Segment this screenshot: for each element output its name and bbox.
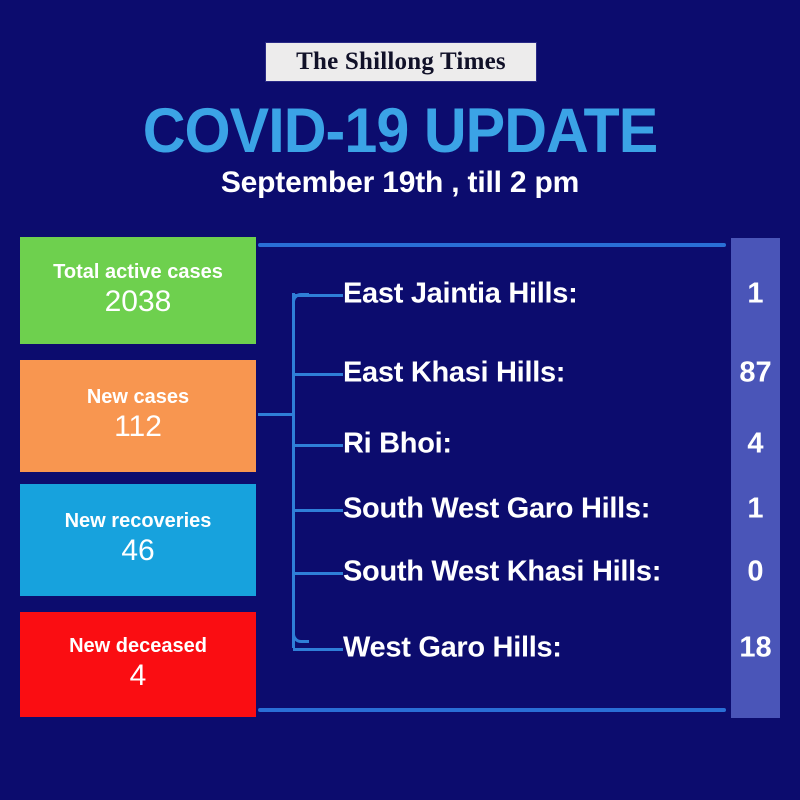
stat-label: New deceased [69,635,207,657]
stat-value: 112 [114,408,162,446]
bracket-feed-line [258,413,294,416]
stat-label: New recoveries [65,510,212,532]
bracket-stub [293,509,343,512]
stat-card-new-cases: New cases 112 [20,360,256,472]
bracket-stub [293,648,343,651]
bracket-spine [292,293,295,648]
covid-update-poster: The Shillong Times COVID-19 UPDATE Septe… [0,0,800,800]
stat-card-new-recoveries: New recoveries 46 [20,484,256,596]
stat-card-new-deceased: New deceased 4 [20,612,256,717]
district-bracket-connector [258,285,348,660]
bracket-stub [293,572,343,575]
publication-masthead: The Shillong Times [265,42,537,82]
district-name: South West Garo Hills: [343,493,650,526]
stat-value: 2038 [105,283,172,321]
district-name: Ri Bhoi: [343,428,452,461]
district-count: 1 [731,493,780,526]
divider-line-bottom [258,708,726,712]
page-subtitle: September 19th , till 2 pm [0,166,800,200]
district-count: 1 [731,278,780,311]
district-count: 87 [731,357,780,390]
bracket-corner-bottom-icon [292,626,309,643]
stat-value: 4 [130,657,147,695]
district-count: 4 [731,428,780,461]
stat-label: Total active cases [53,261,223,283]
district-name: South West Khasi Hills: [343,556,661,589]
district-name: West Garo Hills: [343,632,562,665]
district-name: East Khasi Hills: [343,357,565,390]
district-name: East Jaintia Hills: [343,278,577,311]
district-count: 0 [731,556,780,589]
bracket-stub [293,373,343,376]
district-count: 18 [731,632,780,665]
bracket-stub [293,294,343,297]
publication-name: The Shillong Times [296,48,506,76]
stat-label: New cases [87,386,189,408]
divider-line-top [258,243,726,247]
stat-value: 46 [121,532,154,570]
page-title: COVID-19 UPDATE [24,95,776,167]
stat-card-total-active-cases: Total active cases 2038 [20,237,256,344]
bracket-stub [293,444,343,447]
